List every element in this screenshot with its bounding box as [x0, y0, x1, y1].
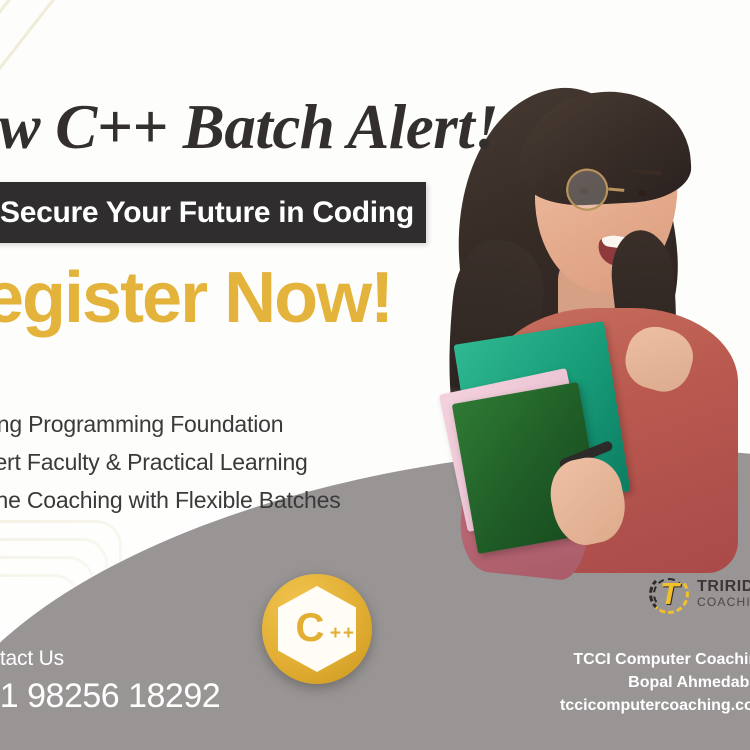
- contact-label: Contact Us: [0, 647, 220, 671]
- logo-letter-t: T: [660, 578, 679, 609]
- list-item-label: Online Coaching with Flexible Batches: [0, 487, 341, 513]
- feature-list: ✔Strong Programming Foundation ✔Expert F…: [0, 411, 341, 514]
- contact-phone[interactable]: +91 98256 18292: [0, 677, 220, 716]
- website-link[interactable]: tccicomputercoaching.com: [560, 694, 750, 717]
- logo-tagline: COACHING: [697, 596, 750, 609]
- address-block: TCCI Computer Coaching Bopal Ahmedabad t…: [560, 648, 750, 718]
- cpp-letter: C: [296, 606, 325, 651]
- subheadline-banner: Secure Your Future in Coding: [0, 182, 426, 243]
- contact-block: Contact Us +91 98256 18292: [0, 647, 220, 716]
- promo-poster: New C++ Batch Alert! Secure Your Future …: [0, 0, 750, 750]
- logo-mark-icon: T: [648, 573, 690, 615]
- tririd-logo: T TRIRID COACHING: [648, 573, 750, 615]
- address-line-2: Bopal Ahmedabad: [560, 671, 750, 694]
- list-item: ✔Strong Programming Foundation: [0, 411, 341, 439]
- logo-name: TRIRID: [697, 579, 750, 596]
- cpp-plus-1: +: [330, 624, 341, 643]
- cpp-logo-badge: C + +: [262, 574, 372, 684]
- list-item: ✔Expert Faculty & Practical Learning: [0, 449, 341, 477]
- logo-wordmark: TRIRID COACHING: [697, 579, 750, 608]
- hexagon-shape: C + +: [278, 586, 356, 672]
- cta-register-now[interactable]: Register Now!: [0, 262, 392, 334]
- list-item-label: Expert Faculty & Practical Learning: [0, 449, 308, 475]
- address-line-1: TCCI Computer Coaching: [560, 648, 750, 671]
- list-item-label: Strong Programming Foundation: [0, 411, 283, 437]
- subheadline-text: Secure Your Future in Coding: [0, 196, 414, 230]
- cpp-plus-2: +: [343, 624, 354, 643]
- list-item: ✔Online Coaching with Flexible Batches: [0, 487, 341, 515]
- headline: New C++ Batch Alert!: [0, 96, 498, 159]
